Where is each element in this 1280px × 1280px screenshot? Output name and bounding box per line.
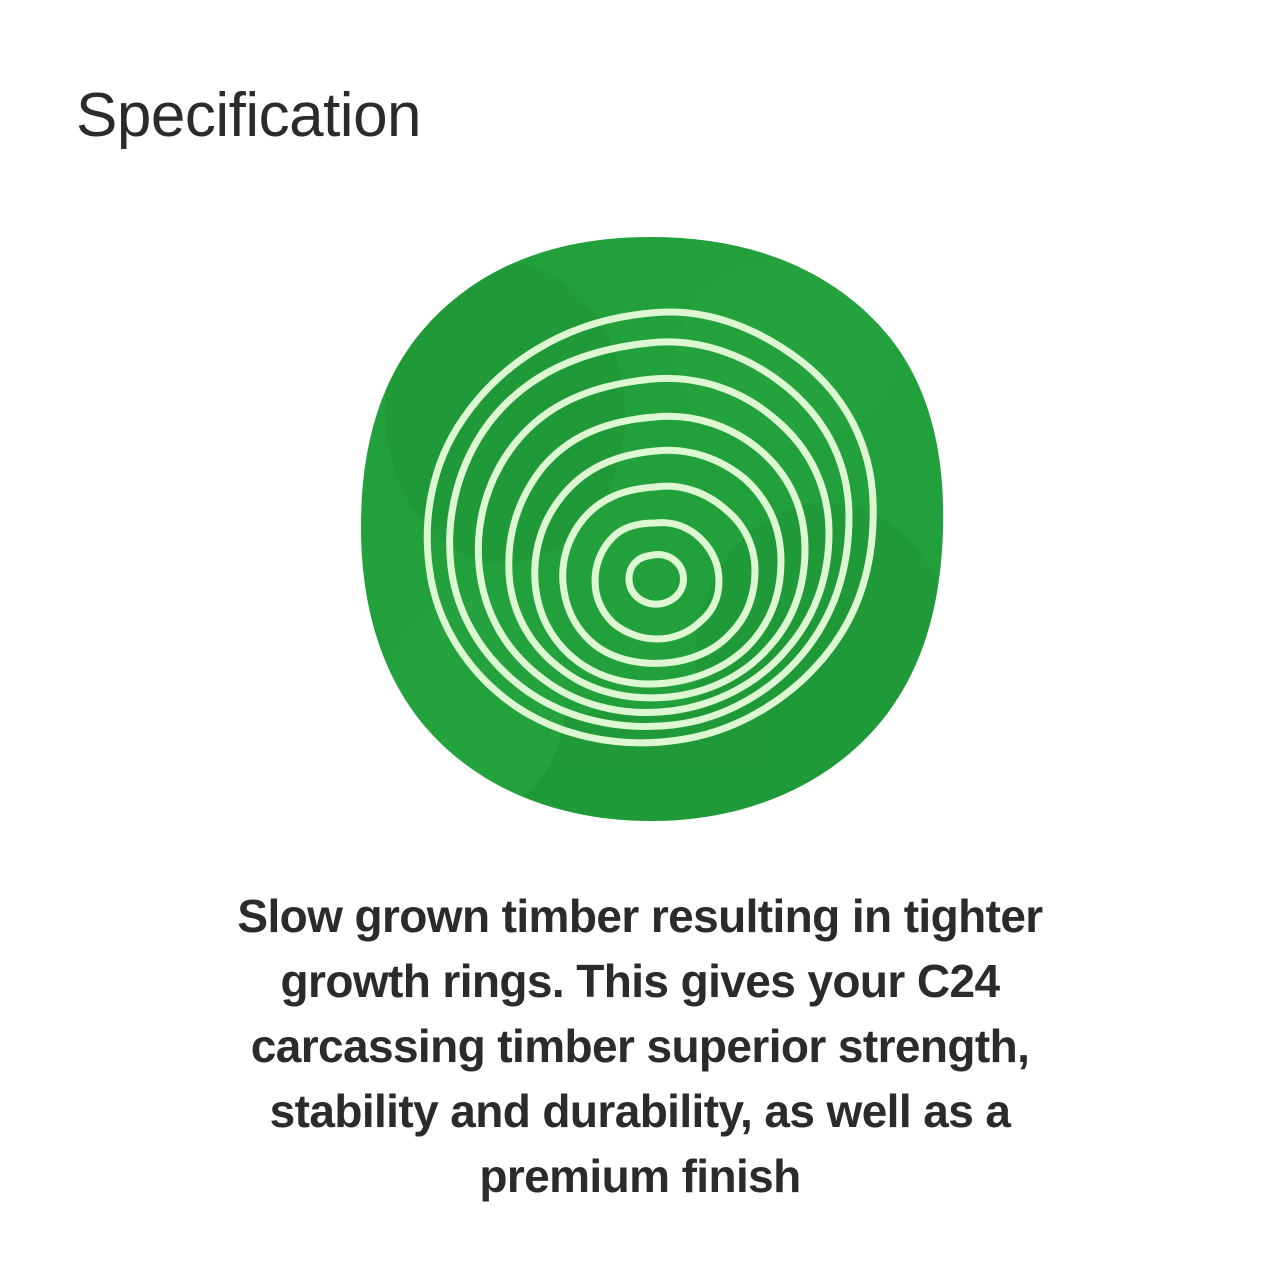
page-title: Specification [76,82,421,150]
tree-growth-rings-icon [355,233,947,825]
caption-line: Slow grown timber resulting in tighter [140,884,1140,949]
caption-line: growth rings. This gives your C24 [140,949,1140,1014]
specification-caption: Slow grown timber resulting in tighter g… [140,884,1140,1209]
caption-line: carcassing timber superior strength, [140,1014,1140,1079]
caption-line: premium finish [140,1144,1140,1209]
specification-panel: Specification [0,0,1280,1280]
caption-line: stability and durability, as well as a [140,1079,1140,1144]
